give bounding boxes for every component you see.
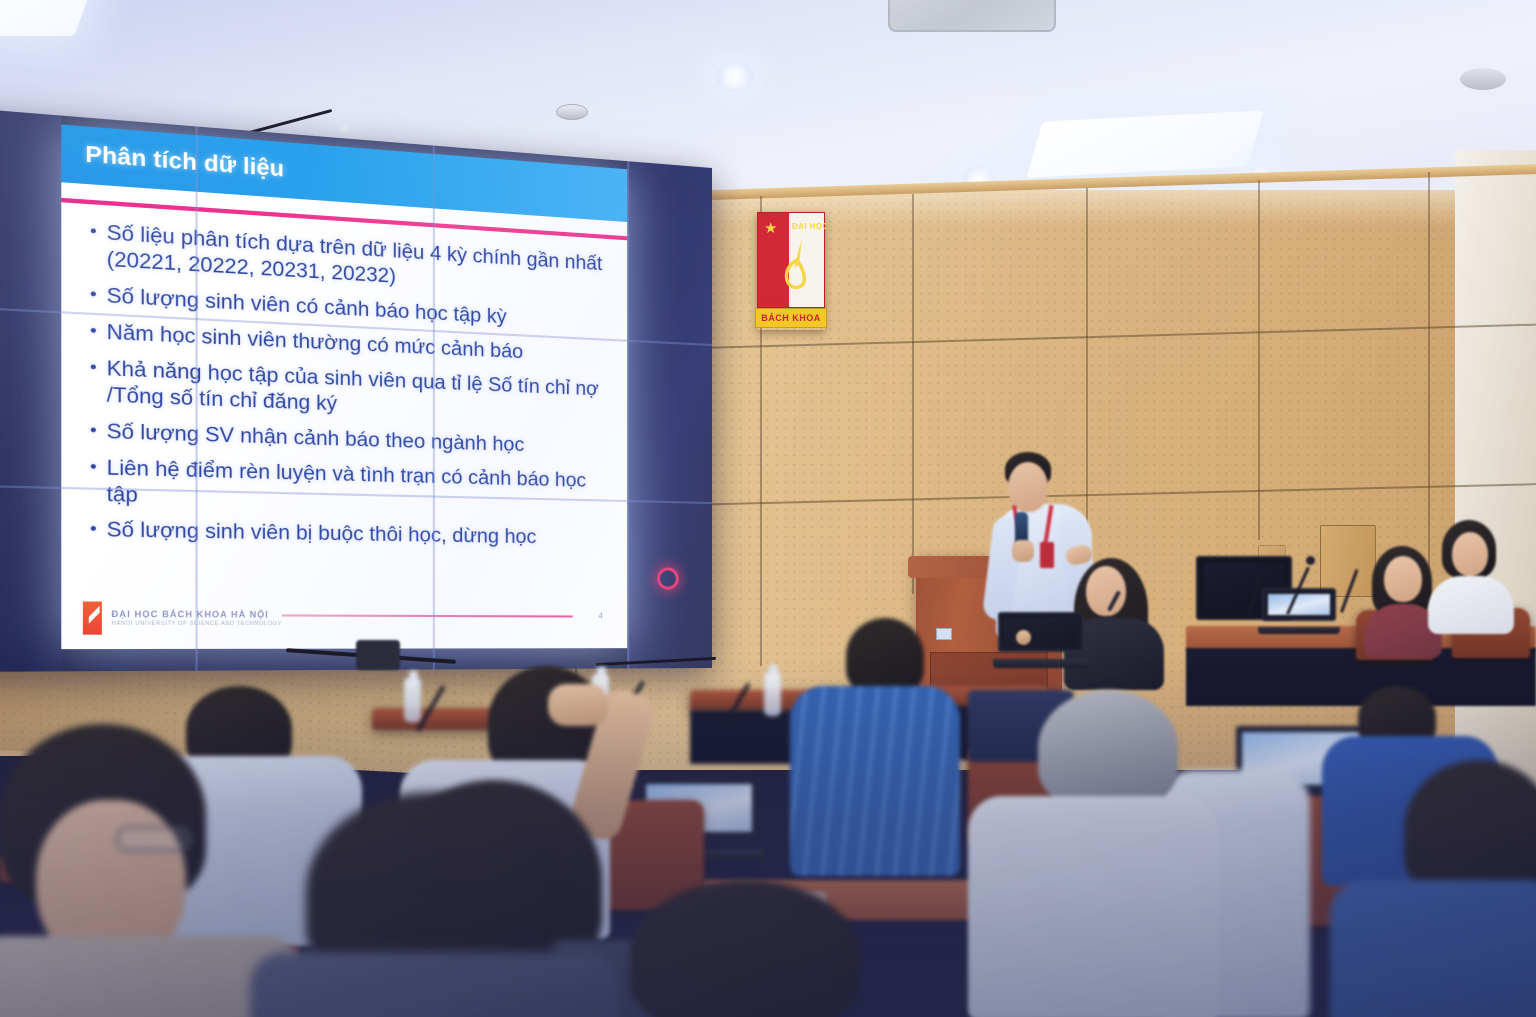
list-item: • Số lượng SV nhận cảnh báo theo ngành h… [90,418,607,460]
laptop-logo-icon [1016,630,1031,645]
hair [1404,760,1536,900]
eyeglasses-icon [116,826,192,852]
presenter-laptop [998,612,1084,668]
list-item: • Liên hệ điểm rèn luyện và tình trạn có… [90,455,607,518]
speaker-box [356,640,400,670]
emblem-top-text: ĐẠI HỌC [792,222,829,231]
bullet-icon: • [90,455,107,508]
list-item: • Số lượng sinh viên bị buộc thôi học, d… [90,518,607,552]
torso [968,796,1218,1017]
head [1452,532,1488,576]
ceiling-panel-light-left [0,0,94,36]
list-item-text: Số lượng SV nhận cảnh báo theo ngành học [107,419,607,460]
laptop-screen [1004,618,1078,646]
bullet-icon: • [90,518,107,545]
led-video-wall[interactable]: Phân tích dữ liệu • Số liệu phân tích dự… [0,105,712,672]
laptop-lid [998,612,1084,652]
name-badge [1040,542,1054,568]
panel-laptop [1262,588,1336,634]
hair [1038,690,1178,806]
hand [548,684,608,726]
org-name-en: HANOI UNIVERSITY OF SCIENCE AND TECHNOLO… [111,620,282,627]
power-indicator-icon [657,567,679,589]
torch-icon [777,234,811,300]
list-item-text: Liên hệ điểm rèn luyện và tình trạn có c… [107,455,607,518]
desk-microphone-head [1306,556,1315,565]
ceiling-speaker-icon [1460,68,1506,90]
video-wall-dark-panel-left [0,105,61,672]
podium-label [936,628,952,640]
slide-footer-org: ĐẠI HỌC BÁCH KHOA HÀ NỘI HANOI UNIVERSIT… [111,609,282,627]
conference-room-photo: ★ ĐẠI HỌC BÁCH KHOA Phân tích dữ liệu • … [0,0,1536,1017]
wall-seam [1428,172,1430,592]
ceiling-downlight [716,62,754,92]
bullet-icon: • [90,283,107,310]
list-item: • Khả năng học tập của sinh viên qua tỉ … [90,356,607,427]
hust-logo-icon [83,601,102,634]
org-name: ĐẠI HỌC BÁCH KHOA HÀ NỘI [111,609,282,619]
emblem-banner-text: BÁCH KHOA [755,308,827,328]
wall-seam [912,194,914,594]
ac-vent-icon [888,0,1056,32]
presenter-hand [1012,540,1034,562]
wall-seam [1258,180,1260,540]
wall-access-panel [1320,525,1376,597]
university-emblem: ★ ĐẠI HỌC BÁCH KHOA [757,212,825,330]
laptop-base [1258,627,1341,634]
water-bottle [764,672,781,716]
laptop-lid [1262,588,1336,621]
slide-bullet-list: • Số liệu phân tích dựa trên dữ liệu 4 k… [61,202,627,597]
star-icon: ★ [764,221,777,236]
torso [1428,576,1514,634]
list-item-text: Số lượng sinh viên bị buộc thôi học, dừn… [107,518,607,552]
ceiling-downlight-reflection [336,122,354,136]
torso [250,952,620,1017]
smoke-detector-icon [556,104,588,120]
torso [790,686,960,876]
bullet-icon: • [90,319,107,346]
water-bottle [404,678,421,722]
wall-seam [1086,188,1088,558]
presentation-slide: Phân tích dữ liệu • Số liệu phân tích dự… [61,124,627,649]
laptop-base [993,659,1089,668]
bullet-icon: • [90,356,107,410]
slide-footer: ĐẠI HỌC BÁCH KHOA HÀ NỘI HANOI UNIVERSIT… [61,594,627,650]
head [1384,556,1422,602]
footer-rule [282,614,573,617]
bullet-icon: • [90,418,107,445]
laptop-screen [1268,594,1330,615]
hair [846,618,924,694]
page-number: 4 [599,611,603,620]
hair [630,880,860,1017]
torso [1330,880,1536,1017]
list-item-text: Khả năng học tập của sinh viên qua tỉ lệ… [107,356,607,427]
video-wall-dark-panel-right [627,161,712,668]
slide-title: Phân tích dữ liệu [85,142,284,183]
bullet-icon: • [90,220,107,274]
ceiling-panel-light [1026,110,1263,177]
